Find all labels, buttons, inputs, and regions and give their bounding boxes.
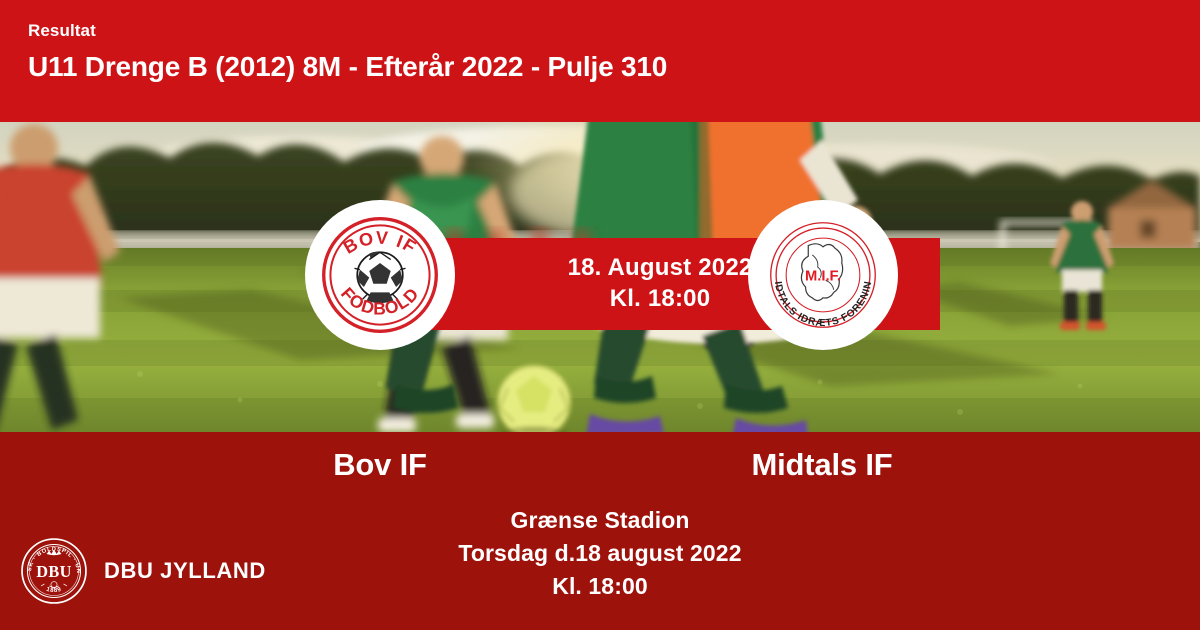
home-team-name: Bov IF: [230, 448, 530, 482]
midtals-if-crest-icon: M.I.F. MIDTALS IDRÆTS FORENING: [756, 208, 890, 342]
team-names-row: Bov IF Midtals IF: [0, 448, 1200, 492]
dbu-crest-icon: DBU DANSK · BOLDSPIL · UNION 1889: [20, 537, 88, 605]
bov-if-fodbold-crest-icon: BOV IF FODBOLD: [313, 208, 447, 342]
header-kicker: Resultat: [28, 22, 1200, 39]
away-team-name: Midtals IF: [672, 448, 972, 482]
match-time: Kl. 18:00: [610, 284, 711, 315]
venue-name: Grænse Stadion: [0, 504, 1200, 537]
poster-header: Resultat U11 Drenge B (2012) 8M - Efterå…: [0, 0, 1200, 122]
page-title: U11 Drenge B (2012) 8M - Efterår 2022 - …: [28, 52, 1200, 81]
away-crest-center-text: M.I.F.: [805, 268, 841, 284]
home-team-crest: BOV IF FODBOLD: [305, 200, 455, 350]
dbu-monogram: DBU: [36, 562, 71, 581]
dbu-brand: DBU DANSK · BOLDSPIL · UNION 1889 DBU JY…: [20, 537, 266, 605]
match-result-poster: Resultat U11 Drenge B (2012) 8M - Efterå…: [0, 0, 1200, 630]
away-team-crest: M.I.F. MIDTALS IDRÆTS FORENING: [748, 200, 898, 350]
dbu-brand-label: DBU JYLLAND: [104, 558, 266, 584]
match-date: 18. August 2022: [568, 253, 753, 284]
